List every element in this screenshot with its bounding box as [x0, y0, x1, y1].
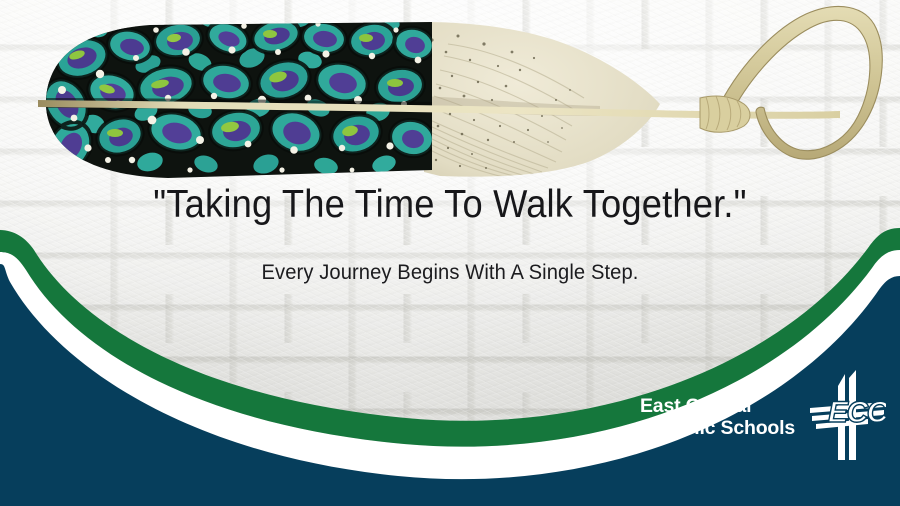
banner-graphic: "Taking The Time To Walk Together." Ever… [0, 0, 900, 506]
eccs-monogram-text: ECCS [828, 396, 886, 429]
logo-line-2: Catholic Schools [640, 417, 795, 439]
eccs-monogram: ECCS [828, 396, 886, 429]
logo-line-1: East Central [640, 395, 795, 417]
eccs-cross-icon: ECCS [808, 364, 886, 460]
logo: East Central Catholic Schools ECCS [640, 386, 880, 448]
logo-wordmark: East Central Catholic Schools [640, 395, 795, 439]
